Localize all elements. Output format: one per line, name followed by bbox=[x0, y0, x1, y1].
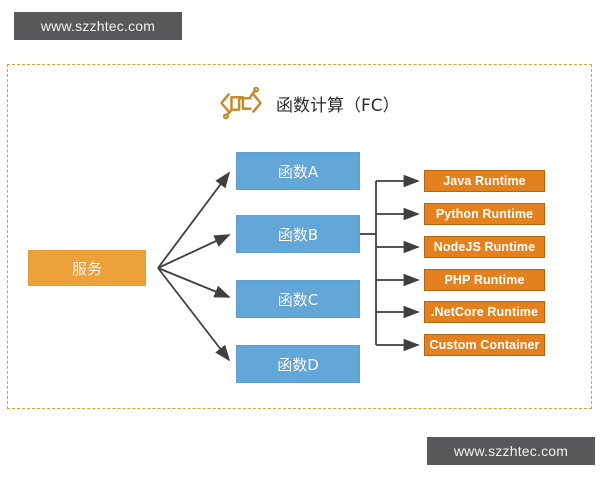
watermark-top: www.szzhtec.com bbox=[14, 12, 182, 40]
diagram-title-group: 函数计算（FC） bbox=[218, 82, 400, 124]
runtime-node-nodejs[interactable]: NodeJS Runtime bbox=[424, 236, 545, 258]
runtime-node-php[interactable]: PHP Runtime bbox=[424, 269, 545, 291]
function-node-b[interactable]: 函数B bbox=[236, 215, 360, 253]
function-node-d[interactable]: 函数D bbox=[236, 345, 360, 383]
function-node-c[interactable]: 函数C bbox=[236, 280, 360, 318]
runtime-node-netcore[interactable]: .NetCore Runtime bbox=[424, 301, 545, 323]
watermark-bottom: www.szzhtec.com bbox=[427, 437, 595, 465]
runtime-node-custom-container[interactable]: Custom Container bbox=[424, 334, 545, 356]
runtime-node-java[interactable]: Java Runtime bbox=[424, 170, 545, 192]
runtime-node-python[interactable]: Python Runtime bbox=[424, 203, 545, 225]
fc-circuit-logo-icon bbox=[218, 82, 264, 124]
function-node-a[interactable]: 函数A bbox=[236, 152, 360, 190]
service-node[interactable]: 服务 bbox=[28, 250, 146, 286]
diagram-page: www.szzhtec.com 函数计算（FC） bbox=[0, 0, 600, 480]
page-title: 函数计算（FC） bbox=[276, 91, 400, 116]
